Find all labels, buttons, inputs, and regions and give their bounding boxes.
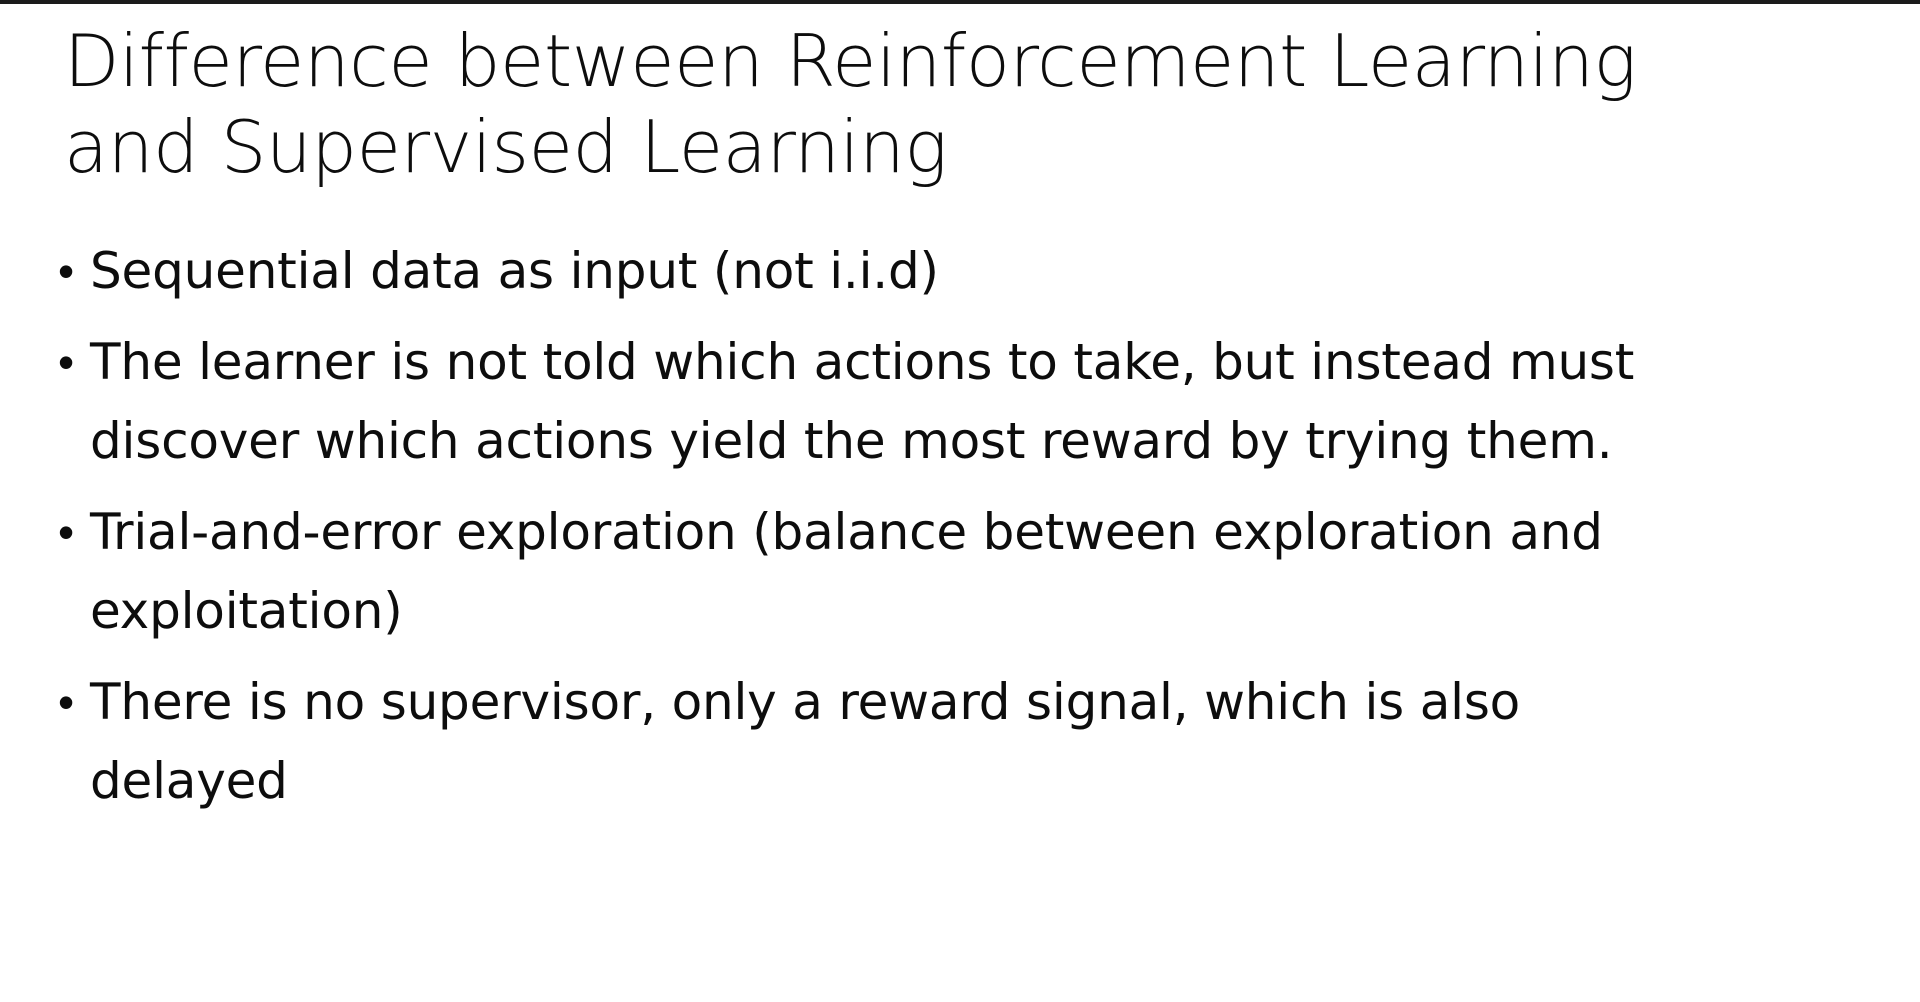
bullet-text: There is no supervisor, only a reward si… — [90, 663, 1730, 821]
list-item: • There is no supervisor, only a reward … — [48, 663, 1878, 821]
bullet-text: The learner is not told which actions to… — [90, 323, 1730, 481]
bullet-point-icon: • — [48, 323, 90, 402]
bullet-point-icon: • — [48, 663, 90, 742]
slide-title-line-1: Difference between Reinforcement Learnin… — [64, 18, 1824, 104]
presentation-slide: Difference between Reinforcement Learnin… — [0, 0, 1920, 1002]
slide-title: Difference between Reinforcement Learnin… — [64, 18, 1824, 190]
bullet-point-icon: • — [48, 232, 90, 311]
slide-top-edge — [0, 0, 1920, 4]
list-item: • Trial-and-error exploration (balance b… — [48, 493, 1878, 651]
slide-body: • Sequential data as input (not i.i.d) •… — [48, 232, 1878, 833]
list-item: • Sequential data as input (not i.i.d) — [48, 232, 1878, 311]
list-item: • The learner is not told which actions … — [48, 323, 1878, 481]
bullet-point-icon: • — [48, 493, 90, 572]
bullet-text: Trial-and-error exploration (balance bet… — [90, 493, 1730, 651]
bullet-text: Sequential data as input (not i.i.d) — [90, 232, 1730, 311]
slide-title-line-2: and Supervised Learning — [64, 104, 1824, 190]
